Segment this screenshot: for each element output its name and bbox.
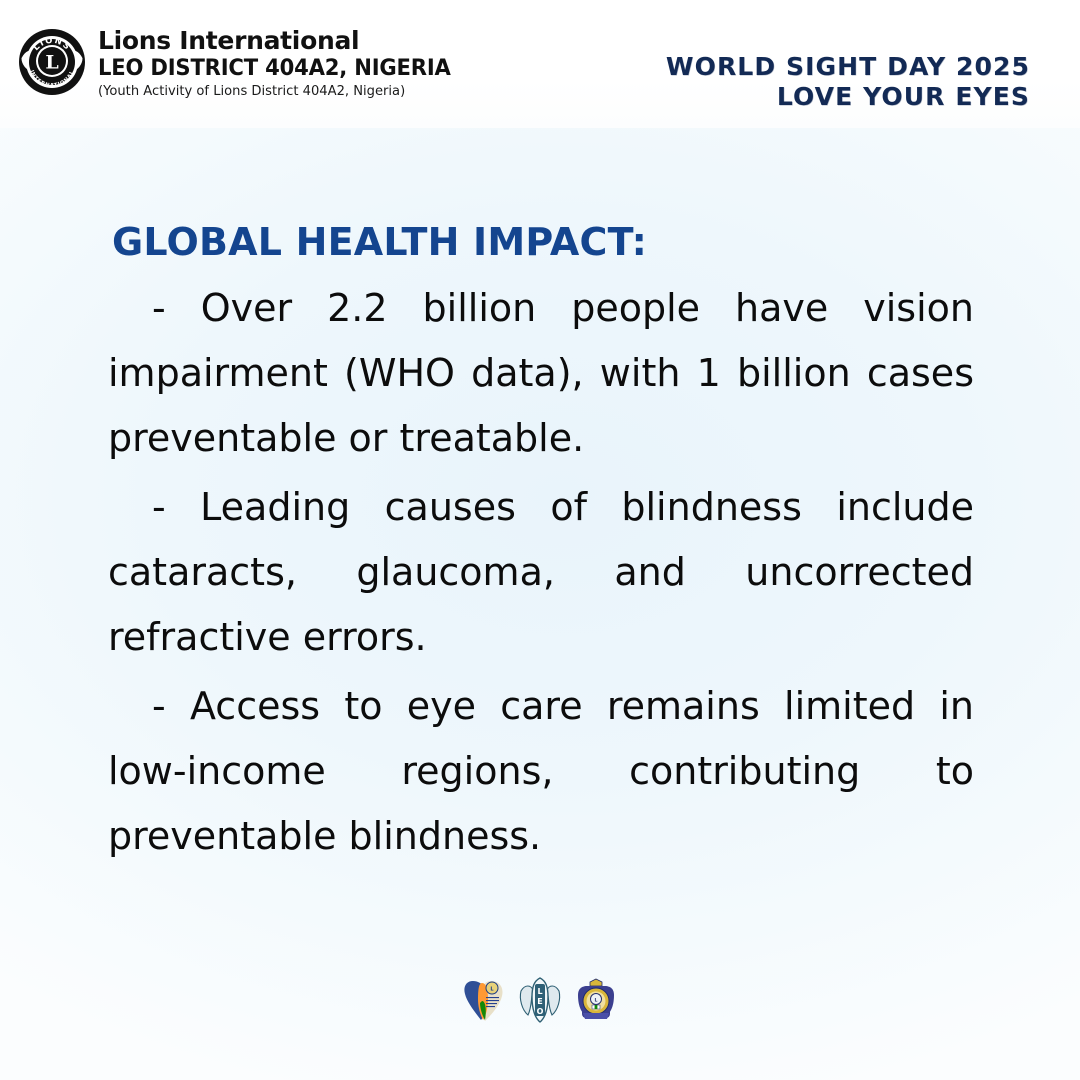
svg-text:L: L bbox=[45, 52, 58, 74]
footer-emblem-row: L L E O bbox=[0, 975, 1080, 1025]
campaign-title-line-1: WORLD SIGHT DAY 2025 bbox=[666, 52, 1030, 82]
brand-subtitle: (Youth Activity of Lions District 404A2,… bbox=[98, 85, 454, 99]
brand-text-block: Lions International LEO DISTRICT 404A2, … bbox=[98, 28, 465, 99]
page-title: GLOBAL HEALTH IMPACT: bbox=[112, 222, 974, 264]
poster-header: L LIONS INTERNATIONAL Lions Internationa… bbox=[0, 0, 1080, 128]
leo-district-404a2-crest-icon: L bbox=[573, 975, 619, 1025]
svg-text:E: E bbox=[537, 997, 542, 1006]
brand-block: L LIONS INTERNATIONAL Lions Internationa… bbox=[0, 0, 465, 99]
svg-text:L: L bbox=[537, 987, 542, 996]
brand-name: Lions International bbox=[98, 28, 465, 53]
main-content: GLOBAL HEALTH IMPACT: - Over 2.2 billion… bbox=[108, 222, 974, 869]
leo-club-emblem-icon: L E O bbox=[517, 975, 563, 1025]
campaign-title-block: WORLD SIGHT DAY 2025 LOVE YOUR EYES bbox=[666, 0, 1080, 111]
svg-text:L: L bbox=[595, 997, 598, 1003]
svg-text:O: O bbox=[537, 1007, 544, 1016]
body-paragraph-2: - Leading causes of blindness include ca… bbox=[108, 475, 974, 670]
campaign-title-line-2: LOVE YOUR EYES bbox=[666, 82, 1030, 112]
body-paragraph-3: - Access to eye care remains limited in … bbox=[108, 674, 974, 869]
lions-international-logo-icon: L LIONS INTERNATIONAL bbox=[18, 28, 86, 96]
poster-canvas: L LIONS INTERNATIONAL Lions Internationa… bbox=[0, 0, 1080, 1080]
body-paragraph-1: - Over 2.2 billion people have vision im… bbox=[108, 276, 974, 471]
lions-club-india-heart-emblem-icon: L bbox=[461, 975, 507, 1025]
brand-district: LEO DISTRICT 404A2, NIGERIA bbox=[98, 58, 451, 80]
